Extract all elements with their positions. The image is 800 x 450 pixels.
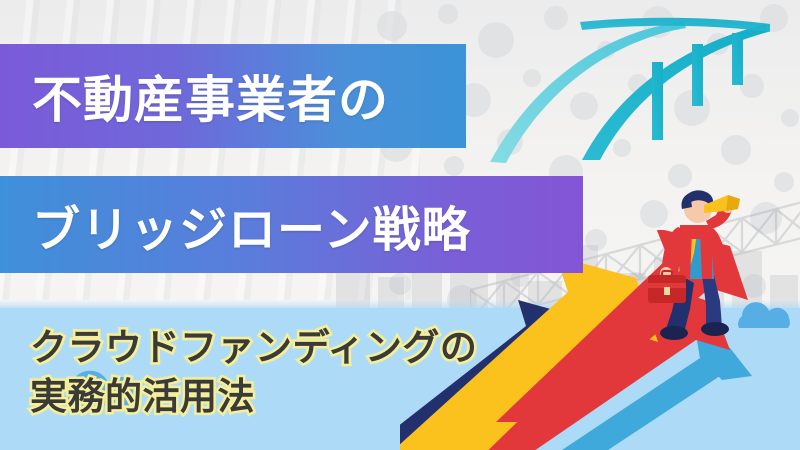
- briefcase-icon: [648, 271, 686, 303]
- bridge-graphic: [470, 0, 800, 200]
- caption-line-1: クラウドファンディングの: [30, 323, 590, 372]
- thumbnail-canvas: 不動産事業者の ブリッジローン戦略 クラウドファンディングの 実務的活用法: [0, 0, 800, 450]
- caption-block: クラウドファンディングの 実務的活用法: [30, 323, 590, 421]
- caption-line-2: 実務的活用法: [30, 372, 590, 421]
- businessman-illustration: [636, 183, 756, 343]
- person-leg-front: [702, 275, 722, 327]
- headline-band-2: ブリッジローン戦略: [0, 176, 583, 273]
- headline-band-1: 不動産事業者の: [0, 44, 466, 148]
- person-shoe-front: [701, 322, 729, 336]
- headline-band-2-text: ブリッジローン戦略: [32, 190, 471, 260]
- person-shoe-back: [660, 326, 688, 340]
- headline-band-1-text: 不動産事業者の: [32, 60, 389, 132]
